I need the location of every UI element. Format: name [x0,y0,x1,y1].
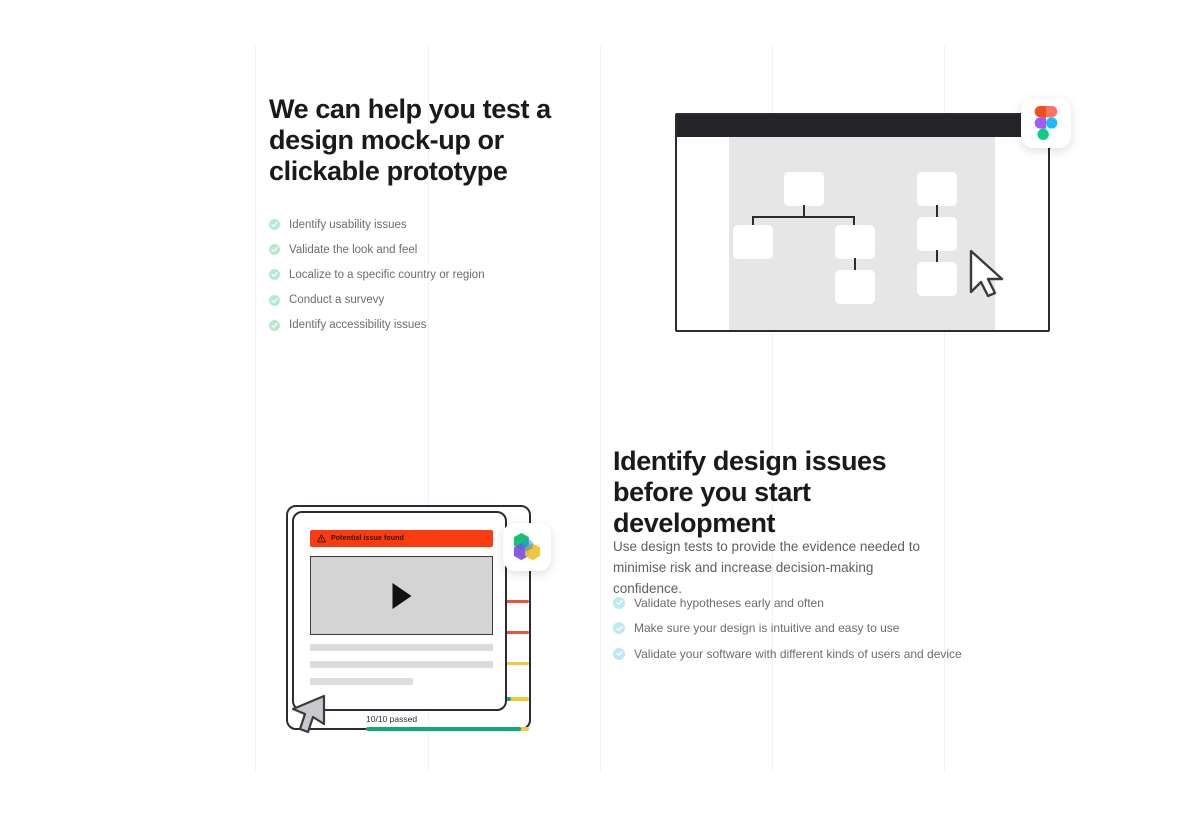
mouse-pointer-icon [290,693,328,738]
flow-node [733,225,773,259]
list-item: Validate your software with different ki… [613,641,962,667]
list-item-label: Make sure your design is intuitive and e… [634,621,899,635]
flow-node [835,225,875,259]
gridline [600,45,601,773]
skeleton-line [310,644,493,651]
list-item: Conduct a survevy [269,288,485,313]
list-item: Identify usability issues [269,212,485,237]
gridline [255,45,256,773]
check-circle-icon [269,219,280,230]
progress-track [366,727,529,731]
progress-label: 10/10 passed [366,714,529,724]
skeleton-line [310,661,493,668]
figma-icon [1034,106,1058,140]
check-circle-icon [269,320,280,331]
warning-triangle-icon [317,534,326,543]
flow-node [917,217,957,251]
report-detail-card: Potential issue found [292,511,507,711]
issue-banner-label: Potential issue found [331,535,404,542]
mouse-pointer-icon [967,248,1011,300]
issue-banner: Potential issue found [310,530,493,547]
check-circle-icon [269,244,280,255]
list-item: Make sure your design is intuitive and e… [613,616,962,642]
progress-fill [366,727,521,731]
check-circle-icon [613,648,625,660]
issues-checklist: Validate hypotheses early and often Make… [613,590,962,667]
list-item-label: Validate the look and feel [289,244,417,256]
check-circle-icon [269,269,280,280]
list-item: Validate the look and feel [269,237,485,262]
flow-node [784,172,824,206]
flow-node [917,172,957,206]
video-placeholder[interactable] [310,556,493,635]
issues-section-heading: Identify design issues before you start … [613,446,943,539]
test-report-card: 21/21 passed 10/10 passed [258,475,538,750]
list-item: Identify accessibility issues [269,313,485,338]
list-item-label: Localize to a specific country or region [289,269,485,281]
page-root: We can help you test a design mock-up or… [0,0,1200,819]
play-icon [392,583,411,609]
flow-node [835,270,875,304]
check-circle-icon [613,622,625,634]
check-circle-icon [269,295,280,306]
flow-node [917,262,957,296]
check-circle-icon [613,597,625,609]
prototype-browser-window [675,113,1050,332]
figma-logo-badge[interactable] [1021,98,1071,148]
design-checklist: Identify usability issues Validate the l… [269,212,485,338]
list-item-label: Validate hypotheses early and often [634,596,824,610]
progress-row: 10/10 passed [366,714,529,731]
list-item-label: Validate your software with different ki… [634,647,962,661]
list-item-label: Identify accessibility issues [289,319,426,331]
list-item: Validate hypotheses early and often [613,590,962,616]
list-item: Localize to a specific country or region [269,262,485,287]
list-item-label: Identify usability issues [289,219,407,231]
hexagon-logo-badge[interactable] [503,523,551,571]
hexagons-icon [511,532,543,562]
browser-title-bar [677,115,1048,137]
design-section-heading: We can help you test a design mock-up or… [269,94,599,187]
browser-canvas [729,137,995,330]
flow-connector [752,216,855,218]
skeleton-line [310,678,413,685]
list-item-label: Conduct a survevy [289,294,384,306]
